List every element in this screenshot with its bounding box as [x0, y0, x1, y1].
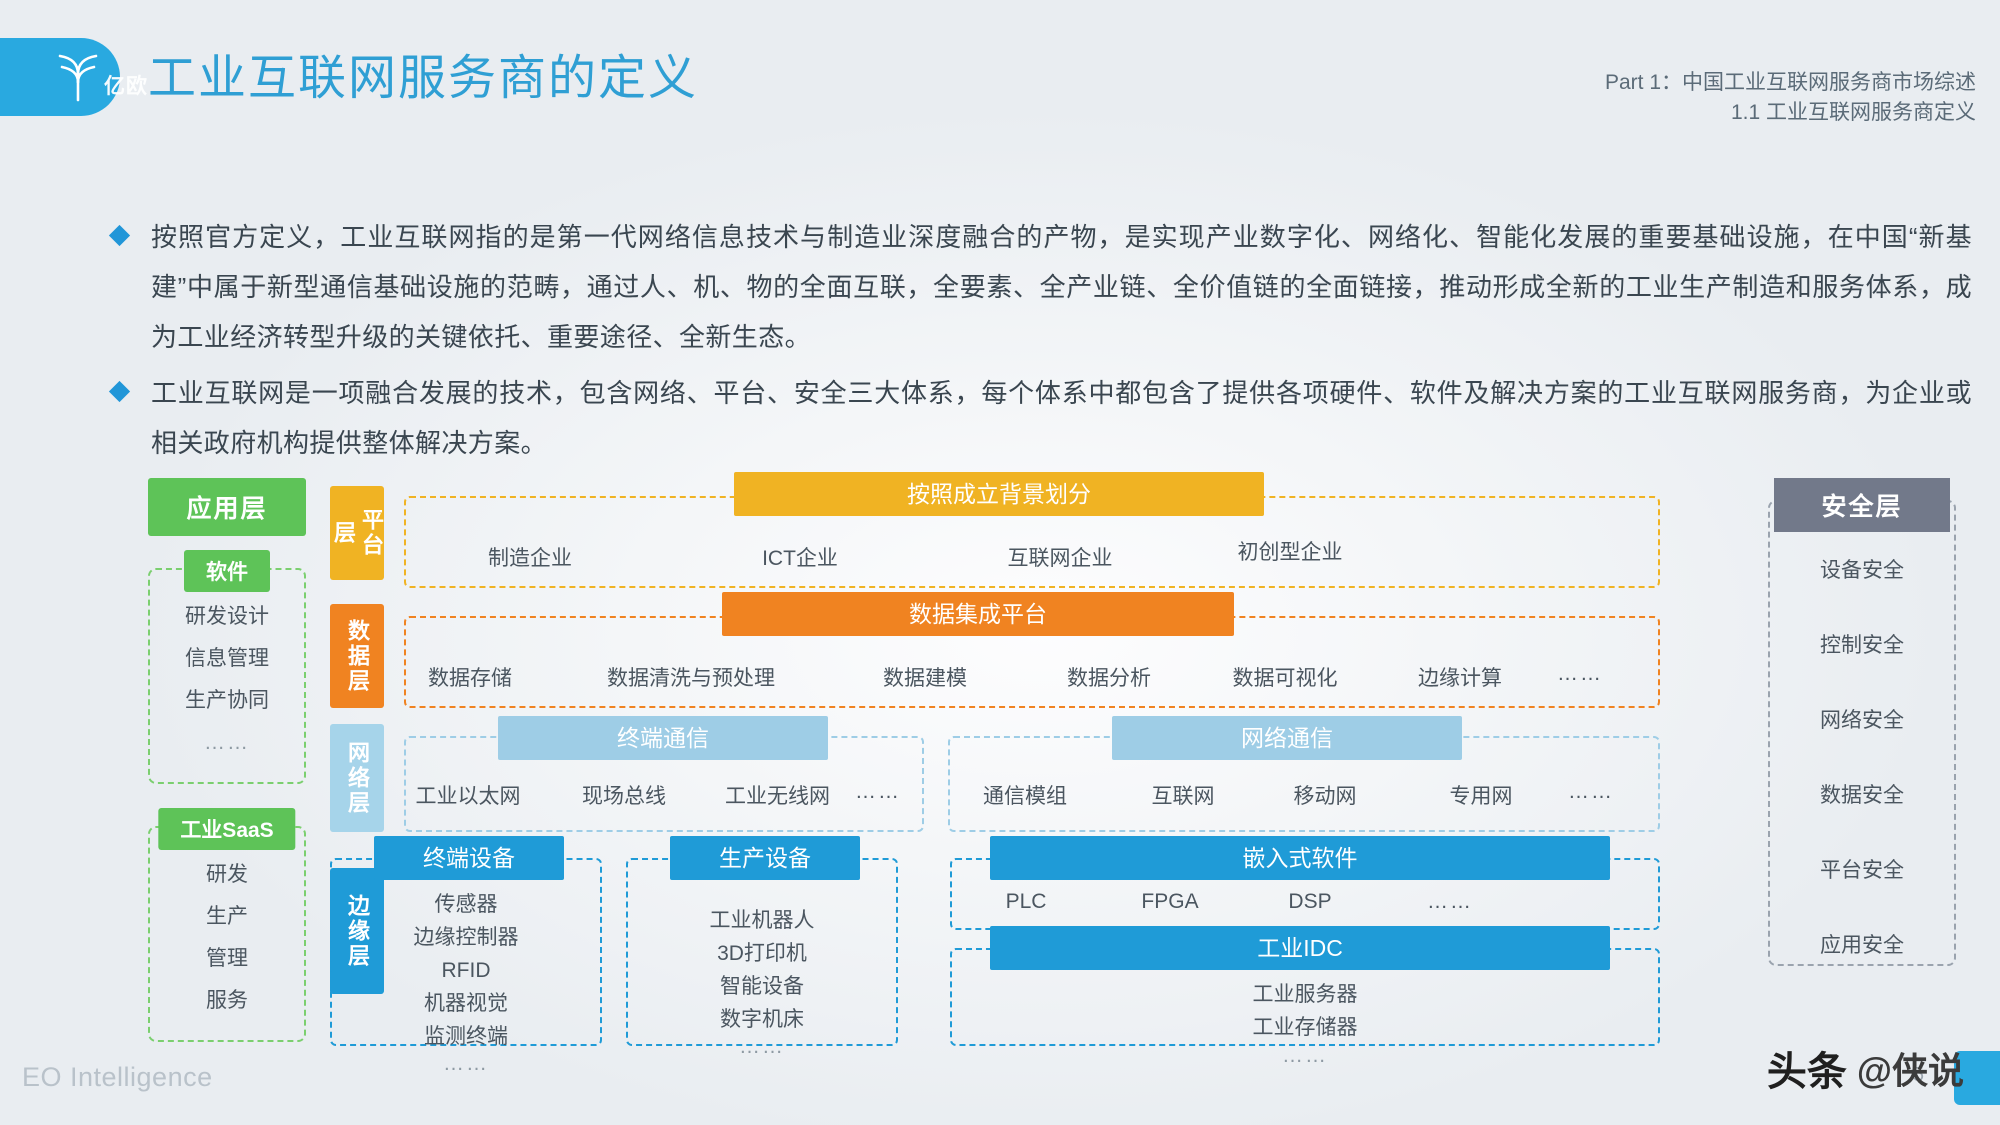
security-item: 平台安全	[1768, 854, 1956, 884]
network-item: 专用网	[1396, 780, 1566, 810]
data-item: 数据存储	[370, 662, 570, 692]
saas-item: 服务	[156, 980, 298, 1022]
security-item: 应用安全	[1768, 929, 1956, 959]
security-items: 设备安全 控制安全 网络安全 数据安全 平台安全 应用安全	[1768, 554, 1956, 959]
security-layer-title: 安全层	[1774, 478, 1950, 532]
watermark: 头条 @侠说	[1767, 1039, 1964, 1097]
software-item-ellipsis: ……	[156, 722, 298, 764]
edge-idc-items: 工业服务器 工业存储器 ……	[950, 978, 1660, 1068]
network-terminal-caption: 终端通信	[498, 716, 828, 760]
edge-item: PLC	[966, 890, 1086, 914]
security-item: 数据安全	[1768, 779, 1956, 809]
data-item: 数据可视化	[1190, 662, 1380, 692]
platform-layer-caption: 按照成立背景划分	[734, 472, 1264, 516]
edge-terminal-items: 传感器 边缘控制器 RFID 机器视觉 监测终端 ……	[330, 888, 602, 1075]
network-item: 现场总线	[544, 780, 704, 810]
edge-layer-row: 边缘层 终端设备 传感器 边缘控制器 RFID 机器视觉 监测终端 …… 生产设…	[330, 836, 1730, 1066]
data-item: 数据清洗与预处理	[556, 662, 826, 692]
security-item: 设备安全	[1768, 554, 1956, 584]
edge-production-caption: 生产设备	[670, 836, 860, 880]
saas-item: 生产	[156, 896, 298, 938]
edge-item: 工业服务器	[950, 978, 1660, 1011]
bullet-item: 按照官方定义，工业互联网指的是第一代网络信息技术与制造业深度融合的产物，是实现产…	[112, 212, 1972, 362]
software-group: 软件 研发设计 信息管理 生产协同 ……	[148, 568, 306, 784]
network-layer-tab: 网络层	[330, 724, 384, 832]
software-item: 信息管理	[156, 638, 298, 680]
network-item-ellipsis: ……	[838, 780, 918, 804]
edge-embedded-caption: 嵌入式软件	[990, 836, 1610, 880]
part-label-line1: Part 1：中国工业互联网服务商市场综述	[1605, 68, 1976, 98]
security-item: 网络安全	[1768, 704, 1956, 734]
brand-logo-text: 亿欧	[104, 70, 148, 100]
bullet-text: 工业互联网是一项融合发展的技术，包含网络、平台、安全三大体系，每个体系中都包含了…	[151, 368, 1972, 468]
platform-item: 制造企业	[430, 542, 630, 572]
network-item-ellipsis: ……	[1546, 780, 1636, 804]
edge-item: 智能设备	[626, 970, 898, 1003]
software-item: 研发设计	[156, 596, 298, 638]
edge-item-ellipsis: ……	[950, 1044, 1660, 1068]
edge-item: 工业机器人	[626, 904, 898, 937]
platform-item: ICT企业	[700, 542, 900, 572]
platform-layer-row: 平台层 按照成立背景划分 制造企业 ICT企业 互联网企业 初创型企业	[330, 478, 1730, 592]
edge-item-ellipsis: ……	[1390, 890, 1510, 914]
edge-terminal-caption: 终端设备	[374, 836, 564, 880]
data-layer-tab: 数据层	[330, 604, 384, 708]
edge-item: 3D打印机	[626, 937, 898, 970]
edge-item: FPGA	[1100, 890, 1240, 914]
diamond-bullet-icon	[109, 381, 130, 402]
edge-idc-caption: 工业IDC	[990, 926, 1610, 970]
slide-root: 亿欧 工业互联网服务商的定义 Part 1：中国工业互联网服务商市场综述 1.1…	[0, 0, 2000, 1125]
data-item: 数据分析	[1024, 662, 1194, 692]
network-item: 移动网	[1240, 780, 1410, 810]
data-item: 数据建模	[830, 662, 1020, 692]
bullet-text: 按照官方定义，工业互联网指的是第一代网络信息技术与制造业深度融合的产物，是实现产…	[151, 212, 1972, 362]
edge-item: DSP	[1250, 890, 1370, 914]
bullet-item: 工业互联网是一项融合发展的技术，包含网络、平台、安全三大体系，每个体系中都包含了…	[112, 368, 1972, 468]
bullet-list: 按照官方定义，工业互联网指的是第一代网络信息技术与制造业深度融合的产物，是实现产…	[112, 212, 1972, 474]
edge-item-ellipsis: ……	[626, 1036, 898, 1058]
edge-item: 机器视觉	[330, 987, 602, 1020]
slide-header: 亿欧 工业互联网服务商的定义 Part 1：中国工业互联网服务商市场综述 1.1…	[0, 0, 2000, 150]
data-layer-row: 数据层 数据集成平台 数据存储 数据清洗与预处理 数据建模 数据分析 数据可视化…	[330, 592, 1730, 716]
network-comm-caption: 网络通信	[1112, 716, 1462, 760]
edge-item: 传感器	[330, 888, 602, 921]
network-item: 互联网	[1108, 780, 1258, 810]
eo-intelligence-brand: EO Intelligence	[22, 1062, 213, 1093]
application-layer-column: 应用层 软件 研发设计 信息管理 生产协同 …… 工业SaaS 研发 生产 管理…	[148, 478, 306, 1042]
security-item: 控制安全	[1768, 629, 1956, 659]
edge-item: 数字机床	[626, 1003, 898, 1036]
middle-stack: 平台层 按照成立背景划分 制造企业 ICT企业 互联网企业 初创型企业 数据层 …	[330, 478, 1730, 1066]
application-layer-title: 应用层	[148, 478, 306, 536]
saas-item: 研发	[156, 854, 298, 896]
edge-production-items: 工业机器人 3D打印机 智能设备 数字机床 ……	[626, 904, 898, 1058]
watermark-handle: @侠说	[1857, 1042, 1964, 1094]
architecture-diagram: 应用层 软件 研发设计 信息管理 生产协同 …… 工业SaaS 研发 生产 管理…	[0, 478, 2000, 1078]
yiou-logo-icon	[50, 50, 106, 106]
industrial-saas-group: 工业SaaS 研发 生产 管理 服务	[148, 826, 306, 1042]
software-group-chip: 软件	[184, 550, 270, 592]
edge-item: RFID	[330, 954, 602, 987]
page-title: 工业互联网服务商的定义	[148, 38, 698, 108]
platform-item: 互联网企业	[960, 542, 1160, 572]
data-item-ellipsis: ……	[1520, 662, 1640, 686]
saas-item: 管理	[156, 938, 298, 980]
toutiao-logo-text: 头条	[1767, 1039, 1847, 1097]
part-label-line2: 1.1 工业互联网服务商定义	[1605, 98, 1976, 128]
industrial-saas-group-chip: 工业SaaS	[158, 808, 295, 850]
edge-item: 工业存储器	[950, 1011, 1660, 1044]
edge-item: 监测终端	[330, 1020, 602, 1053]
software-item: 生产协同	[156, 680, 298, 722]
network-layer-row: 网络层 终端通信 工业以太网 现场总线 工业无线网 …… 网络通信 通信模组 互…	[330, 716, 1730, 836]
data-layer-caption: 数据集成平台	[722, 592, 1234, 636]
platform-item: 初创型企业	[1190, 536, 1390, 566]
part-label: Part 1：中国工业互联网服务商市场综述 1.1 工业互联网服务商定义	[1605, 68, 1976, 128]
platform-layer-tab: 平台层	[330, 486, 384, 580]
network-item: 工业以太网	[378, 780, 558, 810]
edge-item-ellipsis: ……	[330, 1053, 602, 1075]
edge-item: 边缘控制器	[330, 921, 602, 954]
diamond-bullet-icon	[109, 225, 130, 246]
network-item: 通信模组	[930, 780, 1120, 810]
